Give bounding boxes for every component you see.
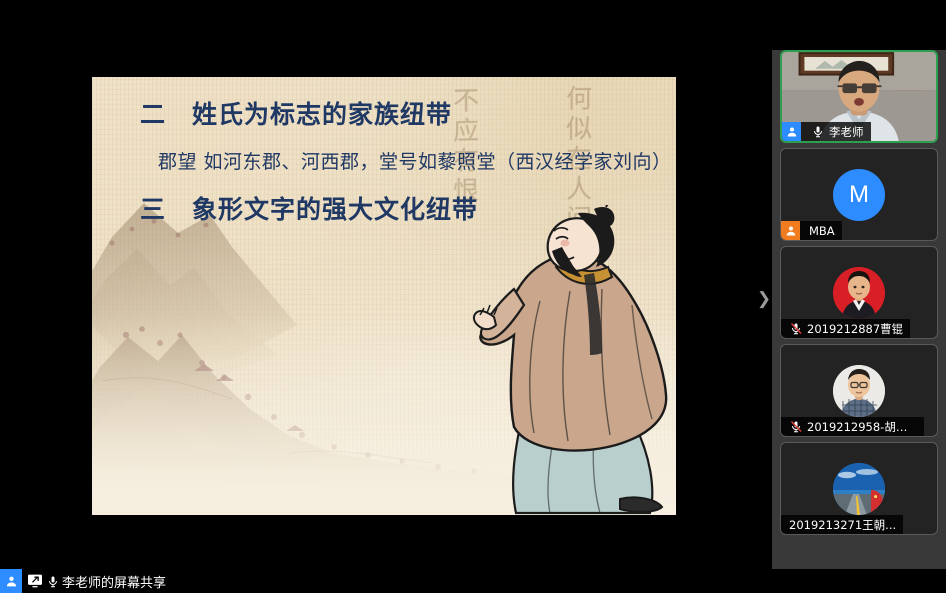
participant-namebar: 2019212887曹锟 xyxy=(781,319,910,338)
presentation-slide[interactable]: 何似在人间 不应有恨 高处不胜寒 明月几时有 xyxy=(92,77,676,515)
participant-namebar: MBA xyxy=(781,221,842,240)
participant-tile-mba[interactable]: M MBA xyxy=(780,148,938,241)
avatar-initial: M xyxy=(849,181,869,209)
avatar-photo xyxy=(833,267,885,319)
share-status-label: 李老师的屏幕共享 xyxy=(62,572,166,591)
mic-muted-icon xyxy=(788,419,803,434)
participant-namebar: 2019212958-胡志... xyxy=(781,417,924,436)
participant-tile-wangchao[interactable]: 2019213271王朝... xyxy=(780,442,938,535)
participant-name: MBA xyxy=(809,224,835,238)
participant-filmstrip: 李老师 M MBA xyxy=(772,0,946,593)
participant-tile-caokun[interactable]: 2019212887曹锟 xyxy=(780,246,938,339)
mic-on-icon xyxy=(47,574,59,589)
participant-namebar: 2019213271王朝... xyxy=(781,515,903,534)
zoom-meeting-window: 何似在人间 不应有恨 高处不胜寒 明月几时有 xyxy=(0,0,946,593)
person-icon xyxy=(782,122,801,141)
screen-share-status-bar: 李老师的屏幕共享 xyxy=(0,569,772,593)
participant-tile-huzhi[interactable]: 2019212958-胡志... xyxy=(780,344,938,437)
screen-share-icon xyxy=(27,574,43,588)
slide-heading-3: 三 象形文字的强大文化纽带 xyxy=(140,190,652,226)
filmstrip-top-spacer xyxy=(772,0,946,50)
participant-name: 2019212887曹锟 xyxy=(807,321,903,337)
slide-text-block: 二 姓氏为标志的家族纽带 郡望 如河东郡、河西郡，堂号如藜照堂（西汉经学家刘向）… xyxy=(92,77,676,226)
slide-subtext: 郡望 如河东郡、河西郡，堂号如藜照堂（西汉经学家刘向） xyxy=(158,147,652,174)
slide-heading-2: 二 姓氏为标志的家族纽带 xyxy=(140,95,652,131)
person-icon xyxy=(0,569,22,593)
participant-namebar: 李老师 xyxy=(782,122,871,141)
mic-on-icon xyxy=(810,124,825,139)
participant-tiles: 李老师 M MBA xyxy=(772,50,946,540)
chevron-right-icon[interactable]: ❯ xyxy=(756,288,772,310)
person-icon xyxy=(781,221,800,240)
participant-name: 李老师 xyxy=(829,124,864,140)
mic-muted-icon xyxy=(788,321,803,336)
avatar-photo xyxy=(833,365,885,417)
participant-tile-teacher[interactable]: 李老师 xyxy=(780,50,938,143)
avatar-photo xyxy=(833,463,885,515)
shared-screen-stage[interactable]: 何似在人间 不应有恨 高处不胜寒 明月几时有 xyxy=(0,0,772,569)
participant-name: 2019213271王朝... xyxy=(789,517,896,533)
statusbar-right-filler xyxy=(772,569,946,593)
scholar-figure-illustration xyxy=(444,205,676,515)
participant-name: 2019212958-胡志... xyxy=(807,419,917,435)
